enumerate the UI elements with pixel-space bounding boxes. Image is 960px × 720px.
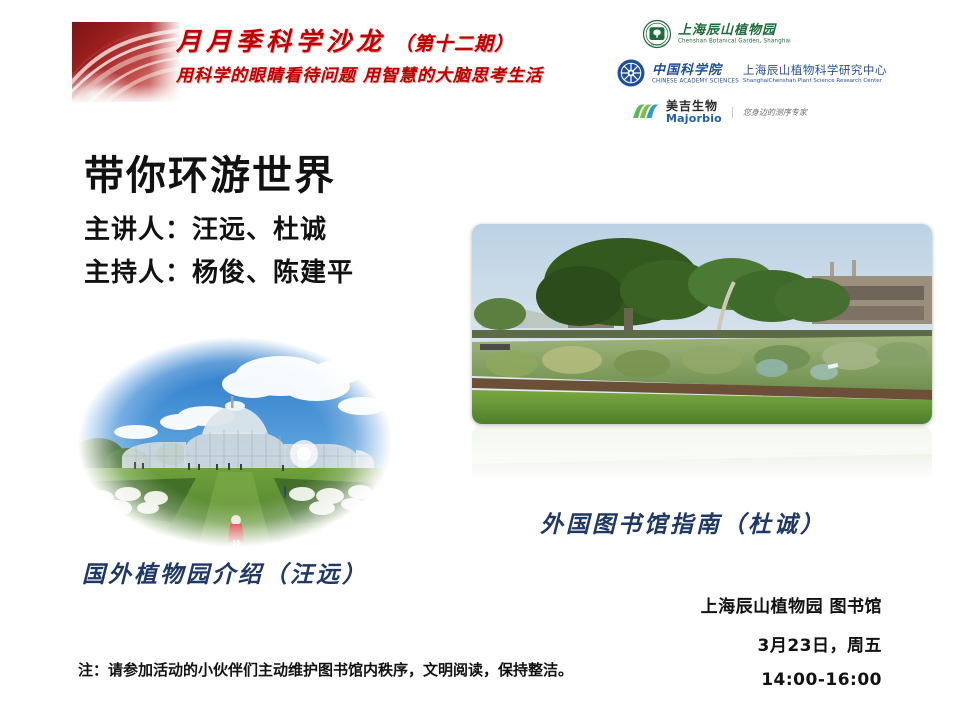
svg-text:CHENSHAN: CHENSHAN (649, 43, 666, 47)
logo-name-en: CHINESE ACADEMY SCIENCES (652, 78, 739, 85)
chenshan-botanical-garden-tree-emblem-icon: CHENSHAN (642, 19, 672, 49)
kew-gardens-palm-house-oval-photo (76, 336, 394, 548)
logo-chenshan-botanical-garden: CHENSHAN 上海辰山植物园 Chenshan Botanical Gard… (614, 18, 944, 50)
botanical-garden-lawn-photo (472, 224, 932, 424)
salon-issue-text: （第十二期） (394, 33, 514, 55)
footnote-text: 注：请参加活动的小伙伴们主动维护图书馆内秩序，文明阅读，保持整洁。 (78, 659, 573, 680)
logo-chinese-academy-of-sciences: 中国科学院 CHINESE ACADEMY SCIENCES 上海辰山植物科学研… (614, 57, 944, 89)
poster-canvas: 月月季科学沙龙（第十二期） 用科学的眼睛看待问题 用智慧的大脑思考生活 CHEN… (0, 0, 960, 720)
caption-left-photo: 国外植物园介绍（汪远） (82, 555, 368, 589)
event-time: 14:00-16:00 (701, 670, 882, 690)
event-venue: 上海辰山植物园 图书馆 (701, 592, 882, 617)
caption-right-photo: 外国图书馆指南（杜诚） (540, 505, 826, 539)
logo-group: CHENSHAN 上海辰山植物园 Chenshan Botanical Gard… (614, 18, 944, 135)
logo-suffix-cn: 上海辰山植物科学研究中心 (743, 62, 887, 78)
header-text-block: 月月季科学沙龙（第十二期） 用科学的眼睛看待问题 用智慧的大脑思考生活 (176, 26, 596, 86)
logo-suffix-en: ShanghaiChenshan Plant Science Research … (743, 78, 887, 84)
majorbio-tagline: 您身边的测序专家 (732, 107, 807, 118)
banner-edge-fade (72, 22, 180, 102)
majorbio-name-latin: Majorbio (666, 113, 722, 125)
red-swoosh-banner-icon (72, 22, 180, 102)
salon-subtitle: 用科学的眼睛看待问题 用智慧的大脑思考生活 (176, 61, 596, 86)
garden-photo-artwork (472, 224, 932, 424)
chinese-academy-of-sciences-emblem-icon (616, 58, 646, 88)
presenter-label: 主讲人：汪远、杜诚 (84, 209, 327, 246)
logo-name-cn: 中国科学院 (652, 64, 739, 78)
event-date: 3月23日，周五 (701, 631, 882, 656)
garden-photo-reflection-artwork (472, 426, 932, 488)
kew-photo-artwork (76, 336, 394, 548)
salon-title: 月月季科学沙龙（第十二期） (176, 26, 596, 57)
logo-name-en: Chenshan Botanical Garden, Shanghai (678, 38, 791, 45)
logo-majorbio: 美吉生物 Majorbio 您身边的测序专家 (614, 96, 944, 128)
page-title: 带你环游世界 (84, 143, 336, 201)
logo-name-cn: 上海辰山植物园 (678, 24, 791, 38)
host-label: 主持人：杨俊、陈建平 (84, 252, 354, 289)
majorbio-name-cn: 美吉生物 (666, 100, 722, 113)
majorbio-logo-icon (630, 97, 660, 127)
event-info-block: 上海辰山植物园 图书馆 3月23日，周五 14:00-16:00 (701, 592, 882, 690)
salon-title-text: 月月季科学沙龙 (176, 27, 386, 56)
oval-vignette-mask (76, 336, 394, 548)
botanical-garden-photo-reflection (472, 426, 932, 488)
